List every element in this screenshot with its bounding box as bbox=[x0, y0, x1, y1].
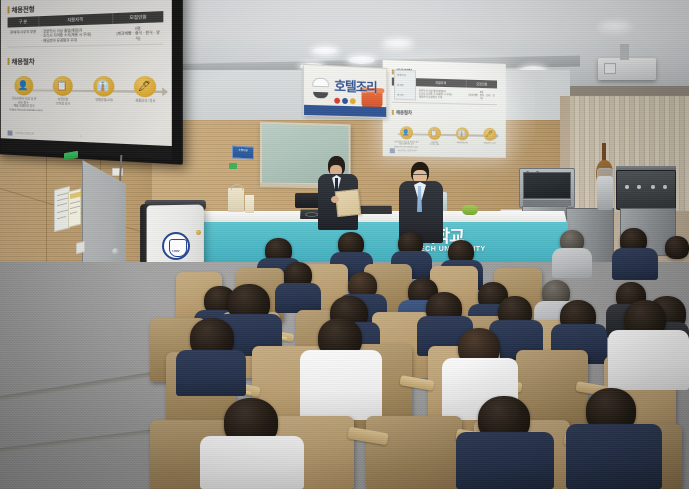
presenter1-necktie bbox=[335, 178, 338, 192]
green-vegetable-item bbox=[462, 205, 478, 215]
door-knob-icon[interactable] bbox=[112, 248, 119, 255]
person-icon: 👤 bbox=[14, 76, 33, 96]
proj-step-4-caption: · 최종합격 / 입사 bbox=[476, 142, 503, 145]
slide-qualification-table: 구 분 지원자격 모집인원 판매직/사무직 부문 · 전문학사 이상 졸업(예정… bbox=[8, 11, 164, 48]
auditorium-seat-front[interactable] bbox=[366, 416, 462, 489]
proj-step-3-caption: · 면접전형(1차) bbox=[448, 142, 476, 145]
proj-step-2-caption: · 서류전형 · 인적성 검사 bbox=[420, 141, 448, 146]
presenter-holding-envelope bbox=[316, 156, 360, 228]
display-screen: 채용전형 구 분 지원자격 모집인원 판매직/사무직 부문 · 전문학사 이상 … bbox=[1, 0, 172, 146]
eyeglasses-icon bbox=[413, 174, 427, 177]
ceiling-downlight bbox=[348, 56, 375, 64]
flow-step-4-caption: · 최종합격 / 입사 bbox=[128, 99, 161, 103]
document-check-icon: 📋 bbox=[52, 76, 72, 96]
pen-signature-icon: 🖊 bbox=[483, 127, 496, 140]
audience-head bbox=[665, 236, 689, 259]
audience-torso-front bbox=[456, 432, 554, 489]
presenter1-hand bbox=[331, 196, 339, 203]
hotel-cooking-banner: 호텔조리 bbox=[303, 64, 387, 118]
projector-mount bbox=[620, 44, 629, 60]
flow-step-4: 🖊 · 최종합격 / 입사 bbox=[128, 76, 161, 103]
audience-torso bbox=[552, 248, 592, 278]
espresso-knob-icon[interactable] bbox=[637, 185, 641, 189]
suit-interview-icon: 👔 bbox=[455, 127, 468, 140]
flow-step-3-caption: · 면접전형(1차) bbox=[88, 99, 119, 103]
audience-torso-front bbox=[200, 436, 304, 489]
blue-wall-sign: 소방시설 bbox=[232, 145, 254, 159]
slide-section2-heading: 채용절차 bbox=[8, 54, 164, 66]
wall-sign-line1: 소방시설 bbox=[233, 146, 253, 153]
document-check-icon: 📋 bbox=[428, 126, 441, 139]
brand-mark-icon bbox=[8, 130, 13, 135]
notice-board-small: 채용안내 공고문 게시판 bbox=[394, 70, 416, 101]
audience-torso bbox=[275, 283, 321, 313]
university-name-korean: 대학교 bbox=[420, 228, 580, 245]
brand-text: HOTEL GROUP bbox=[15, 132, 34, 136]
proj-cell-qualification: · 전문학사 이상 졸업(예정)자 · 조리사 자격증 소지(채용 시 우대) … bbox=[415, 86, 466, 104]
slide-footer-brand: HOTEL GROUP bbox=[8, 130, 35, 136]
chef-hat-shape bbox=[312, 78, 329, 88]
frying-pan-icon bbox=[313, 92, 328, 99]
podium-knob-icon bbox=[196, 230, 201, 235]
lecture-hall-photo: 채용전형 구 분 지원자격 모집인원 판매직/사무직 부문 · 전문학사 이상 … bbox=[0, 0, 689, 489]
ceiling-downlight bbox=[384, 39, 412, 48]
espresso-knob-icon[interactable] bbox=[651, 185, 655, 189]
proj-brand-text: HOTEL GROUP bbox=[398, 149, 417, 152]
university-crest-icon: UNIV bbox=[162, 232, 190, 260]
flow-step-2-caption: · 서류전형 · 인적성 검사 bbox=[48, 98, 77, 106]
crest-label: UNIV bbox=[172, 249, 179, 253]
kraft-envelope-prop bbox=[335, 189, 362, 217]
flow-step-3: 👔 · 면접전형(1차) bbox=[88, 76, 119, 103]
oven-door-glass bbox=[523, 172, 571, 199]
brand-mark-icon bbox=[390, 148, 395, 153]
projector-lens-icon bbox=[604, 63, 616, 74]
recruitment-flow-diagram: 👤 · 입사지원서 작성 및 온라인 접수 · 채용 홈페이지 접수 (http… bbox=[8, 72, 164, 126]
ceiling-downlight bbox=[600, 22, 630, 31]
slide-recruitment: 채용전형 구 분 지원자격 모집인원 판매직/사무직 부문 · 전문학사 이상 … bbox=[1, 0, 172, 146]
proj-footer-brand: HOTEL GROUP bbox=[390, 148, 417, 153]
flow-step-1-caption: · 입사지원서 작성 및 온라인 접수 · 채용 홈페이지 접수 (https:… bbox=[10, 98, 38, 113]
posted-notice-2 bbox=[68, 188, 81, 227]
chef-hat-icon bbox=[312, 78, 329, 101]
coffee-grinder[interactable] bbox=[597, 176, 613, 210]
ceiling-downlight bbox=[312, 47, 338, 55]
pen-signature-icon: 🖊 bbox=[133, 76, 155, 97]
audience-torso-front bbox=[566, 424, 662, 489]
proj-section2-heading: 채용절차 bbox=[392, 110, 497, 118]
espresso-machine[interactable] bbox=[616, 170, 676, 210]
person-icon: 👤 bbox=[399, 126, 412, 139]
table-cell-count: 0명 (제과제빵 · 중식 · 한식 · 양식) bbox=[113, 22, 163, 45]
suit-interview-icon: 👔 bbox=[93, 76, 114, 97]
sponsor-logo-2-icon bbox=[342, 98, 348, 104]
audience-torso bbox=[176, 350, 246, 396]
proj-flow-step-2: 📋 · 서류전형 · 인적성 검사 bbox=[420, 126, 448, 146]
proj-cell-count: 0명 (제과제빵 · 중식 · 한식 · 양식) bbox=[466, 88, 497, 105]
proj-flow-step-1: 👤 · 입사지원서 작성 및 온라인 접수 · 채용 홈페이지 접수 (http… bbox=[392, 126, 420, 149]
wall-mounted-display[interactable]: 채용전형 구 분 지원자격 모집인원 판매직/사무직 부문 · 전문학사 이상 … bbox=[0, 0, 183, 165]
sponsor-logo-3-icon bbox=[350, 98, 356, 104]
presenter-speaking bbox=[398, 162, 444, 242]
exit-sign-right bbox=[229, 163, 237, 169]
audience-torso bbox=[300, 350, 382, 420]
kraft-paper-bag-small bbox=[245, 195, 254, 213]
audience-torso bbox=[612, 248, 658, 280]
proj-flow-step-3: 👔 · 면접전형(1차) bbox=[448, 127, 476, 145]
flow-step-1: 👤 · 입사지원서 작성 및 온라인 접수 · 채용 홈페이지 접수 (http… bbox=[10, 76, 38, 112]
slide-page-number: 7 bbox=[80, 134, 82, 138]
espresso-knob-icon[interactable] bbox=[625, 185, 629, 189]
wall-switch-plate[interactable] bbox=[76, 241, 85, 254]
banner-title: 호텔조리 bbox=[334, 80, 376, 95]
banner-bottom-strip bbox=[304, 105, 386, 117]
notice-line-3: 게시판 bbox=[395, 90, 415, 101]
table-cell-qualification: · 전문학사 이상 졸업(예정)자 · 조리사 자격증 소지(채용 시 우대) … bbox=[39, 24, 113, 47]
banner-sponsor-logos bbox=[334, 98, 356, 105]
kraft-paper-bag bbox=[228, 188, 244, 212]
flow-step-2: 📋 · 서류전형 · 인적성 검사 bbox=[48, 76, 77, 106]
dark-tray bbox=[358, 206, 392, 214]
audience-torso bbox=[608, 330, 689, 390]
sponsor-logo-1-icon bbox=[334, 98, 340, 104]
table-cell-category: 판매직/사무직 부문 bbox=[8, 27, 40, 48]
espresso-knob-icon[interactable] bbox=[663, 185, 667, 189]
proj-flow-step-4: 🖊 · 최종합격 / 입사 bbox=[476, 127, 503, 145]
